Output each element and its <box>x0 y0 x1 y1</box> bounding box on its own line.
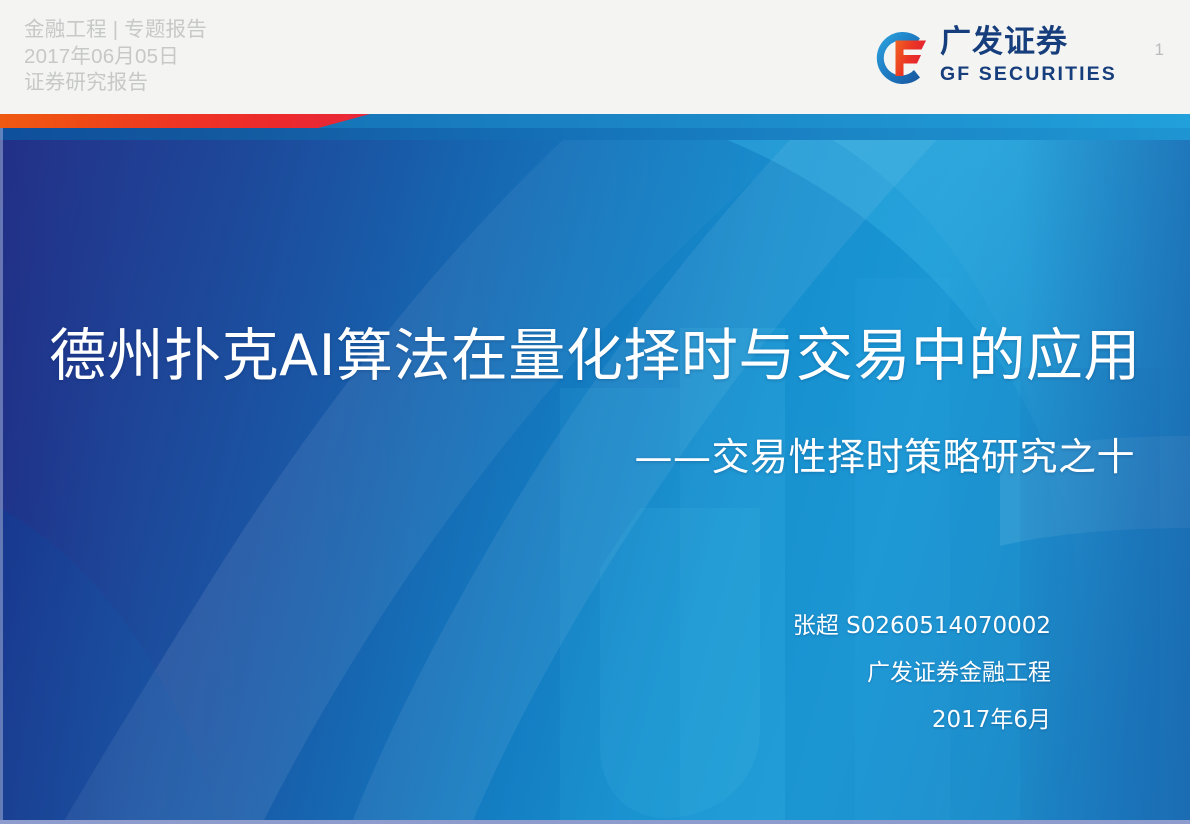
cover-byline-block: 张超 S0260514070002 广发证券金融工程 2017年6月 <box>631 603 1051 744</box>
header-meta-line-category: 金融工程 | 专题报告 <box>24 17 207 44</box>
bottom-edge-rule <box>0 820 1190 824</box>
byline-author: 张超 S0260514070002 <box>631 603 1051 650</box>
byline-department: 广发证券金融工程 <box>631 650 1051 697</box>
cover-artwork-area: 德州扑克AI算法在量化择时与交易中的应用 ——交易性择时策略研究之十 张超 S0… <box>0 128 1190 824</box>
divider-blue-top <box>300 114 1190 128</box>
cover-subtitle: ——交易性择时策略研究之十 <box>634 426 1135 481</box>
cover-title: 德州扑克AI算法在量化择时与交易中的应用 <box>0 325 1190 389</box>
header-meta-line-date: 2017年06月05日 <box>24 44 207 71</box>
gf-emblem-icon <box>868 25 934 91</box>
slide-cover: 金融工程 | 专题报告 2017年06月05日 证券研究报告 <box>0 0 1190 824</box>
brand-name-cn: 广发证券 <box>940 22 1106 62</box>
brand-wordmark: 广发证券 GF SECURITIES <box>940 22 1106 94</box>
header-divider-stripe <box>0 114 1190 140</box>
brand-logo: 广发证券 GF SECURITIES <box>868 22 1108 94</box>
page-number: 1 <box>1155 40 1164 60</box>
slide-header: 金融工程 | 专题报告 2017年06月05日 证券研究报告 <box>0 0 1190 114</box>
header-meta-block: 金融工程 | 专题报告 2017年06月05日 证券研究报告 <box>24 17 207 97</box>
byline-date: 2017年6月 <box>631 697 1051 744</box>
header-meta-line-type: 证券研究报告 <box>24 70 207 97</box>
brand-name-en: GF SECURITIES <box>940 62 1106 86</box>
left-edge-rule <box>0 128 3 824</box>
divider-red-wedge <box>0 114 370 128</box>
